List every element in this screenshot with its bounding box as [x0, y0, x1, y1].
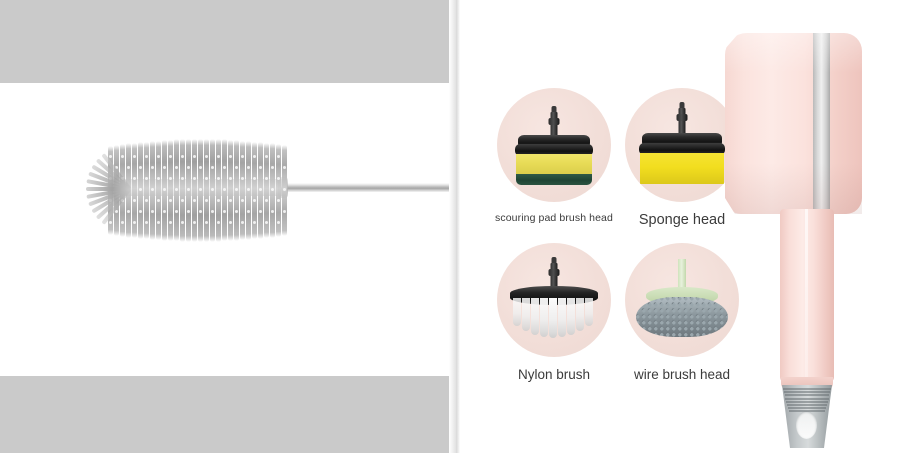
- head-circle-background: [497, 243, 611, 357]
- end-cap-rib: [787, 404, 827, 406]
- right-product-panel: scouring pad brush head Sponge head: [460, 0, 919, 453]
- nylon-bristle-tuft: [549, 298, 557, 338]
- hex-post-knob-icon: [549, 269, 560, 276]
- bristle-tip: [193, 221, 196, 224]
- bristle-tip: [277, 155, 280, 158]
- bristle-tip: [127, 210, 130, 213]
- bristle-tip: [229, 155, 232, 158]
- end-cap-rib: [783, 388, 831, 390]
- bristle-tip: [217, 155, 220, 158]
- brush-bristle-barrel: [108, 139, 286, 242]
- panel-right-edge: [449, 0, 456, 453]
- bristle-tip: [169, 221, 172, 224]
- bristle-tip: [151, 210, 154, 213]
- hanging-hole: [796, 411, 817, 439]
- bristle-tip: [181, 155, 184, 158]
- bristle-tip: [259, 166, 262, 169]
- bristle-tip: [283, 166, 286, 169]
- bristle-tip: [133, 221, 136, 224]
- bristle-tip: [217, 177, 220, 180]
- bristle-tip: [265, 221, 268, 224]
- bristle-tip: [181, 199, 184, 202]
- bristle-tip: [139, 210, 142, 213]
- yellow-sponge-layer: [516, 154, 592, 176]
- bristle-tip: [235, 188, 238, 191]
- bristle-tip: [151, 166, 154, 169]
- bristle-tip: [217, 221, 220, 224]
- nylon-bristle-tuft: [522, 298, 530, 331]
- end-cap-rib: [785, 394, 830, 396]
- bristle-tip: [193, 155, 196, 158]
- bristle-tip: [139, 166, 142, 169]
- bristle-tip: [157, 155, 160, 158]
- bristle-tip: [139, 188, 142, 191]
- bristle-tip: [253, 155, 256, 158]
- end-cap-rib: [785, 398, 828, 400]
- yellow-sponge-body: [640, 153, 724, 184]
- bristle-tip: [265, 177, 268, 180]
- bristle-tip: [241, 155, 244, 158]
- bristle-tip: [145, 155, 148, 158]
- bristle-tip: [187, 166, 190, 169]
- end-cap-rib: [789, 410, 825, 412]
- bristle-tip: [229, 221, 232, 224]
- gray-accent-band: [813, 33, 830, 214]
- brush-shaft: [283, 183, 456, 192]
- bristle-tip: [247, 210, 250, 213]
- bristle-tip: [133, 177, 136, 180]
- bristle-tip: [205, 155, 208, 158]
- bristle-tip: [241, 221, 244, 224]
- bristle-tip: [229, 177, 232, 180]
- end-cap-rib: [786, 401, 827, 403]
- bristle-tip: [181, 177, 184, 180]
- bristle-tip: [247, 188, 250, 191]
- head-circle-background: [497, 88, 611, 202]
- nylon-bristle-tuft: [531, 298, 539, 335]
- bristle-tip: [157, 221, 160, 224]
- steel-wire-mesh: [636, 297, 728, 337]
- end-cap-rib: [784, 391, 831, 393]
- nylon-bristle-tuft: [585, 298, 593, 326]
- bristle-tip: [223, 210, 226, 213]
- bristle-tip: [163, 188, 166, 191]
- white-nylon-bristles: [513, 298, 595, 340]
- bristle-tip: [241, 177, 244, 180]
- bristle-tip: [229, 199, 232, 202]
- bristle-tip: [175, 210, 178, 213]
- bottle-brush-product-image: [78, 139, 423, 242]
- bristle-tip: [217, 199, 220, 202]
- bristle-tip: [133, 155, 136, 158]
- bristle-tip: [145, 221, 148, 224]
- bristle-tip: [181, 221, 184, 224]
- nylon-bristle-tuft: [567, 298, 575, 335]
- bristle-tip: [169, 199, 172, 202]
- bristle-tip: [259, 210, 262, 213]
- letterbox-bar-top: [0, 0, 449, 83]
- bristle-tip: [271, 188, 274, 191]
- bristle-tip: [223, 166, 226, 169]
- bristle-tip: [145, 177, 148, 180]
- nylon-bristle-tuft: [540, 298, 548, 337]
- bristle-tip: [199, 166, 202, 169]
- bristle-tip: [127, 166, 130, 169]
- attachment-scouring-pad-brush-head: scouring pad brush head: [484, 88, 624, 225]
- end-cap-rib: [788, 407, 826, 409]
- head-circle-background: [625, 88, 739, 202]
- bristle-tip: [223, 188, 226, 191]
- bristle-tip: [205, 221, 208, 224]
- bristle-tip: [109, 221, 112, 224]
- bristle-tip: [199, 210, 202, 213]
- bristle-tip: [211, 188, 214, 191]
- bristle-tip: [151, 188, 154, 191]
- bristle-tip: [259, 188, 262, 191]
- bristle-tip: [271, 210, 274, 213]
- bristle-tip: [277, 177, 280, 180]
- bristle-tip: [205, 177, 208, 180]
- motor-head-body: [725, 33, 862, 214]
- attachment-nylon-brush: Nylon brush: [484, 243, 624, 383]
- bristle-tip: [109, 155, 112, 158]
- bristle-tip: [205, 199, 208, 202]
- bristle-tip: [169, 177, 172, 180]
- bristle-tip: [253, 199, 256, 202]
- bristle-tip: [121, 221, 124, 224]
- bristle-tip: [187, 188, 190, 191]
- bristle-tip: [265, 199, 268, 202]
- bristle-tip: [133, 199, 136, 202]
- bristle-tip: [163, 166, 166, 169]
- bristle-tip: [121, 155, 124, 158]
- bristle-tip: [193, 199, 196, 202]
- bristle-tip: [271, 166, 274, 169]
- bristle-tip: [265, 155, 268, 158]
- attachment-label: scouring pad brush head: [484, 212, 624, 225]
- handle-highlight: [805, 209, 808, 383]
- left-product-panel: [0, 0, 456, 453]
- bristle-tip: [211, 210, 214, 213]
- attachment-label: Nylon brush: [484, 367, 624, 383]
- head-circle-background: [625, 243, 739, 357]
- bristle-tip: [157, 177, 160, 180]
- bristle-tip: [241, 199, 244, 202]
- bristle-tip: [277, 199, 280, 202]
- product-collage: scouring pad brush head Sponge head: [0, 0, 919, 453]
- bristle-tip: [163, 210, 166, 213]
- bristle-tip: [247, 166, 250, 169]
- bristle-tip: [145, 199, 148, 202]
- bristle-tip: [157, 199, 160, 202]
- hex-post-icon: [679, 108, 686, 136]
- bristle-tip: [175, 166, 178, 169]
- bristle-tip: [193, 177, 196, 180]
- hex-post-knob-icon: [677, 114, 688, 121]
- bristle-tip: [169, 155, 172, 158]
- nylon-bristle-tuft: [513, 298, 521, 326]
- nylon-bristle-tuft: [576, 298, 584, 331]
- letterbox-bar-bottom: [0, 376, 449, 453]
- bristle-tip: [199, 188, 202, 191]
- bristle-tip: [187, 210, 190, 213]
- nylon-bristle-tuft: [558, 298, 566, 337]
- green-scouring-layer: [516, 174, 592, 185]
- hex-post-knob-icon: [549, 118, 560, 125]
- bristle-tip: [235, 166, 238, 169]
- bristle-tip: [253, 221, 256, 224]
- bristle-tip: [283, 210, 286, 213]
- bristle-tip: [277, 221, 280, 224]
- bristle-tip: [235, 210, 238, 213]
- bristle-tip: [211, 166, 214, 169]
- bristle-tip: [283, 188, 286, 191]
- handheld-electric-scrubber: [725, 33, 905, 437]
- bristle-tip: [175, 188, 178, 191]
- bristle-tip: [253, 177, 256, 180]
